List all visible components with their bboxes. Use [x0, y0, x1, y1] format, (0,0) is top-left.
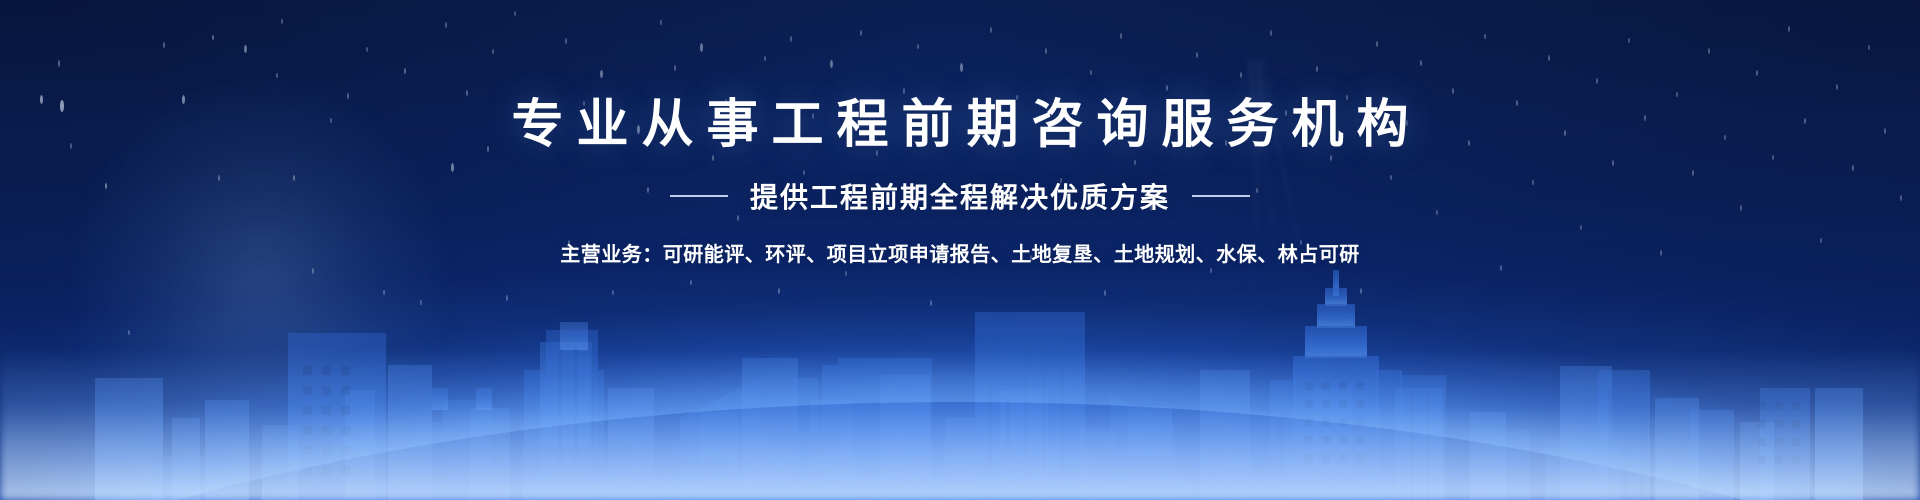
particle-speck [1240, 72, 1242, 78]
hero-services-line: 主营业务：可研能评、环评、项目立项申请报告、土地复垦、土地规划、水保、林占可研 [0, 238, 1920, 267]
particle-speck [1708, 48, 1710, 54]
hero-headline: 专业从事工程前期咨询服务机构 [0, 96, 1920, 154]
particle-speck [700, 43, 703, 52]
particle-speck [1196, 52, 1198, 58]
particle-speck [276, 73, 278, 78]
particle-speck [58, 60, 60, 67]
particle-speck [860, 30, 862, 36]
particle-speck [917, 44, 919, 49]
particle-speck [1484, 34, 1486, 39]
particle-speck [1316, 66, 1318, 72]
particle-speck [674, 65, 676, 71]
particle-speck [600, 70, 603, 78]
particle-speck [1376, 41, 1378, 47]
particle-speck [1420, 60, 1422, 66]
particle-speck [1120, 33, 1122, 39]
particle-speck [1596, 78, 1598, 84]
particle-speck [903, 88, 905, 94]
particle-speck [244, 45, 247, 53]
particle-speck [212, 35, 214, 40]
left-rule-decoration [670, 195, 728, 197]
particle-speck [281, 19, 283, 24]
hero-banner: 专业从事工程前期咨询服务机构 提供工程前期全程解决优质方案 主营业务：可研能评、… [0, 0, 1920, 500]
hero-subline-row: 提供工程前期全程解决优质方案 [0, 176, 1920, 216]
particle-speck [565, 38, 567, 44]
particle-speck [366, 47, 368, 52]
particle-speck [1628, 38, 1630, 43]
ground-haze [0, 350, 1920, 500]
hero-subline: 提供工程前期全程解决优质方案 [750, 176, 1170, 216]
particle-speck [790, 36, 792, 42]
particle-speck [990, 27, 992, 33]
particle-speck [1166, 85, 1168, 91]
particle-speck [1836, 84, 1838, 90]
particle-speck [1756, 70, 1758, 76]
particle-speck [492, 49, 494, 54]
particle-speck [163, 42, 165, 48]
particle-speck [660, 20, 662, 25]
particle-speck [1788, 26, 1790, 32]
particle-speck [960, 63, 963, 72]
particle-speck [445, 22, 447, 28]
right-rule-decoration [1192, 195, 1250, 197]
particle-speck [1548, 55, 1550, 61]
particle-speck [1270, 30, 1272, 36]
particle-speck [764, 56, 766, 61]
particle-speck [1868, 45, 1870, 50]
particle-speck [830, 60, 833, 68]
particle-speck [1452, 88, 1454, 94]
particle-speck [1045, 48, 1047, 54]
particle-speck [1090, 70, 1092, 75]
particle-speck [404, 68, 406, 74]
hero-copy-block: 专业从事工程前期咨询服务机构 提供工程前期全程解决优质方案 主营业务：可研能评、… [0, 96, 1920, 267]
particle-speck [514, 11, 516, 16]
